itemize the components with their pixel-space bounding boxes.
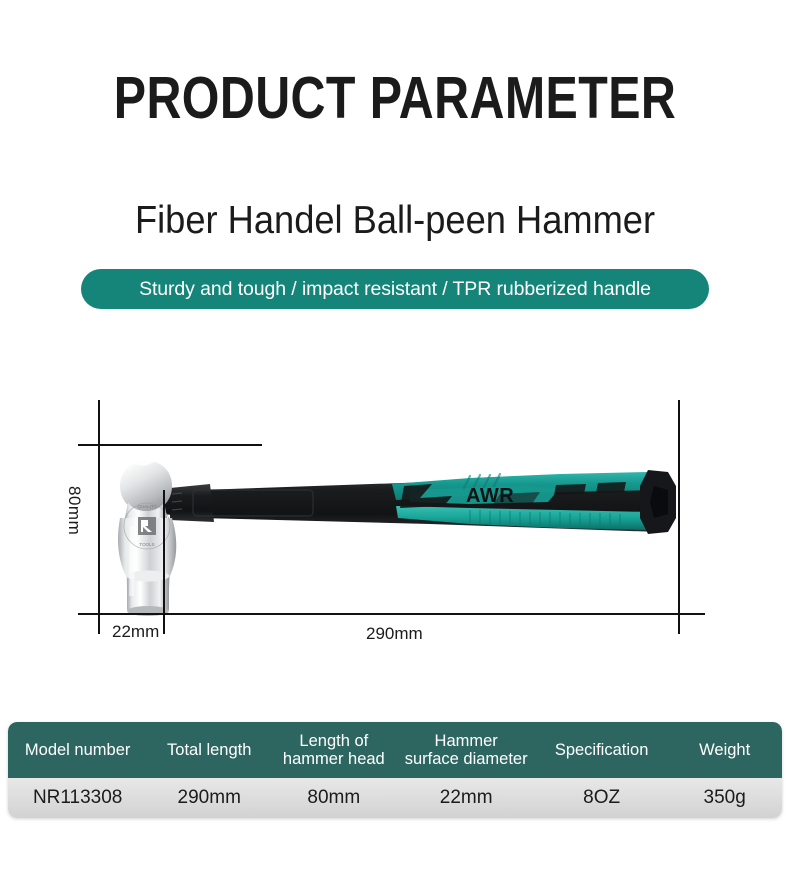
product-name: Fiber Handel Ball-peen Hammer: [28, 199, 763, 243]
table-header-surface-diameter-line1: Hammer: [405, 732, 528, 750]
table-row: NR113308 290mm 80mm 22mm 8OZ 350g: [8, 778, 782, 818]
cell-model-number: NR113308: [8, 778, 147, 818]
product-diagram: AWR: [0, 390, 790, 660]
table-header-total-length: Total length: [147, 722, 271, 778]
dimension-baseline: [78, 613, 705, 615]
cell-total-length: 290mm: [147, 778, 271, 818]
dimension-label-head-height: 80mm: [64, 486, 84, 535]
dimension-label-total-length: 290mm: [366, 624, 423, 644]
table-header-row: Model number Total length Length of hamm…: [8, 722, 782, 778]
table-header-hammer-head-length-line2: hammer head: [283, 750, 385, 768]
cell-hammer-head-length: 80mm: [271, 778, 396, 818]
table-header-surface-diameter-line2: surface diameter: [405, 750, 528, 768]
svg-text:TOOLS: TOOLS: [139, 542, 154, 547]
table-header-weight-label: Weight: [699, 741, 750, 759]
table-header-total-length-label: Total length: [167, 741, 251, 759]
page-title: PRODUCT PARAMETER: [71, 64, 719, 132]
svg-text:QUALITY: QUALITY: [137, 504, 156, 509]
hammer-illustration: AWR: [0, 390, 790, 660]
table-header-weight: Weight: [667, 722, 782, 778]
dimension-guide-left: [98, 400, 100, 634]
table-header-hammer-head-length-line1: Length of: [283, 732, 385, 750]
dimension-label-face-diameter: 22mm: [112, 622, 159, 642]
product-parameter-page: PRODUCT PARAMETER Fiber Handel Ball-peen…: [0, 0, 790, 895]
cell-specification: 8OZ: [536, 778, 668, 818]
table-header-model-number: Model number: [8, 722, 147, 778]
dimension-tick-head-top: [78, 444, 262, 446]
dimension-guide-right: [678, 400, 680, 634]
cell-hammer-surface-diameter: 22mm: [397, 778, 536, 818]
table-header-surface-diameter: Hammer surface diameter: [397, 722, 536, 778]
table-header-model-number-label: Model number: [25, 741, 130, 759]
handle-brand-text: AWR: [466, 485, 514, 507]
feature-badge: Sturdy and tough / impact resistant / TP…: [81, 269, 709, 309]
cell-weight: 350g: [667, 778, 782, 818]
table-header-specification-label: Specification: [555, 741, 649, 759]
table-header-hammer-head-length: Length of hammer head: [271, 722, 396, 778]
table-header-specification: Specification: [536, 722, 668, 778]
feature-badge-label: Sturdy and tough / impact resistant / TP…: [139, 278, 651, 301]
specification-table: Model number Total length Length of hamm…: [8, 722, 782, 818]
